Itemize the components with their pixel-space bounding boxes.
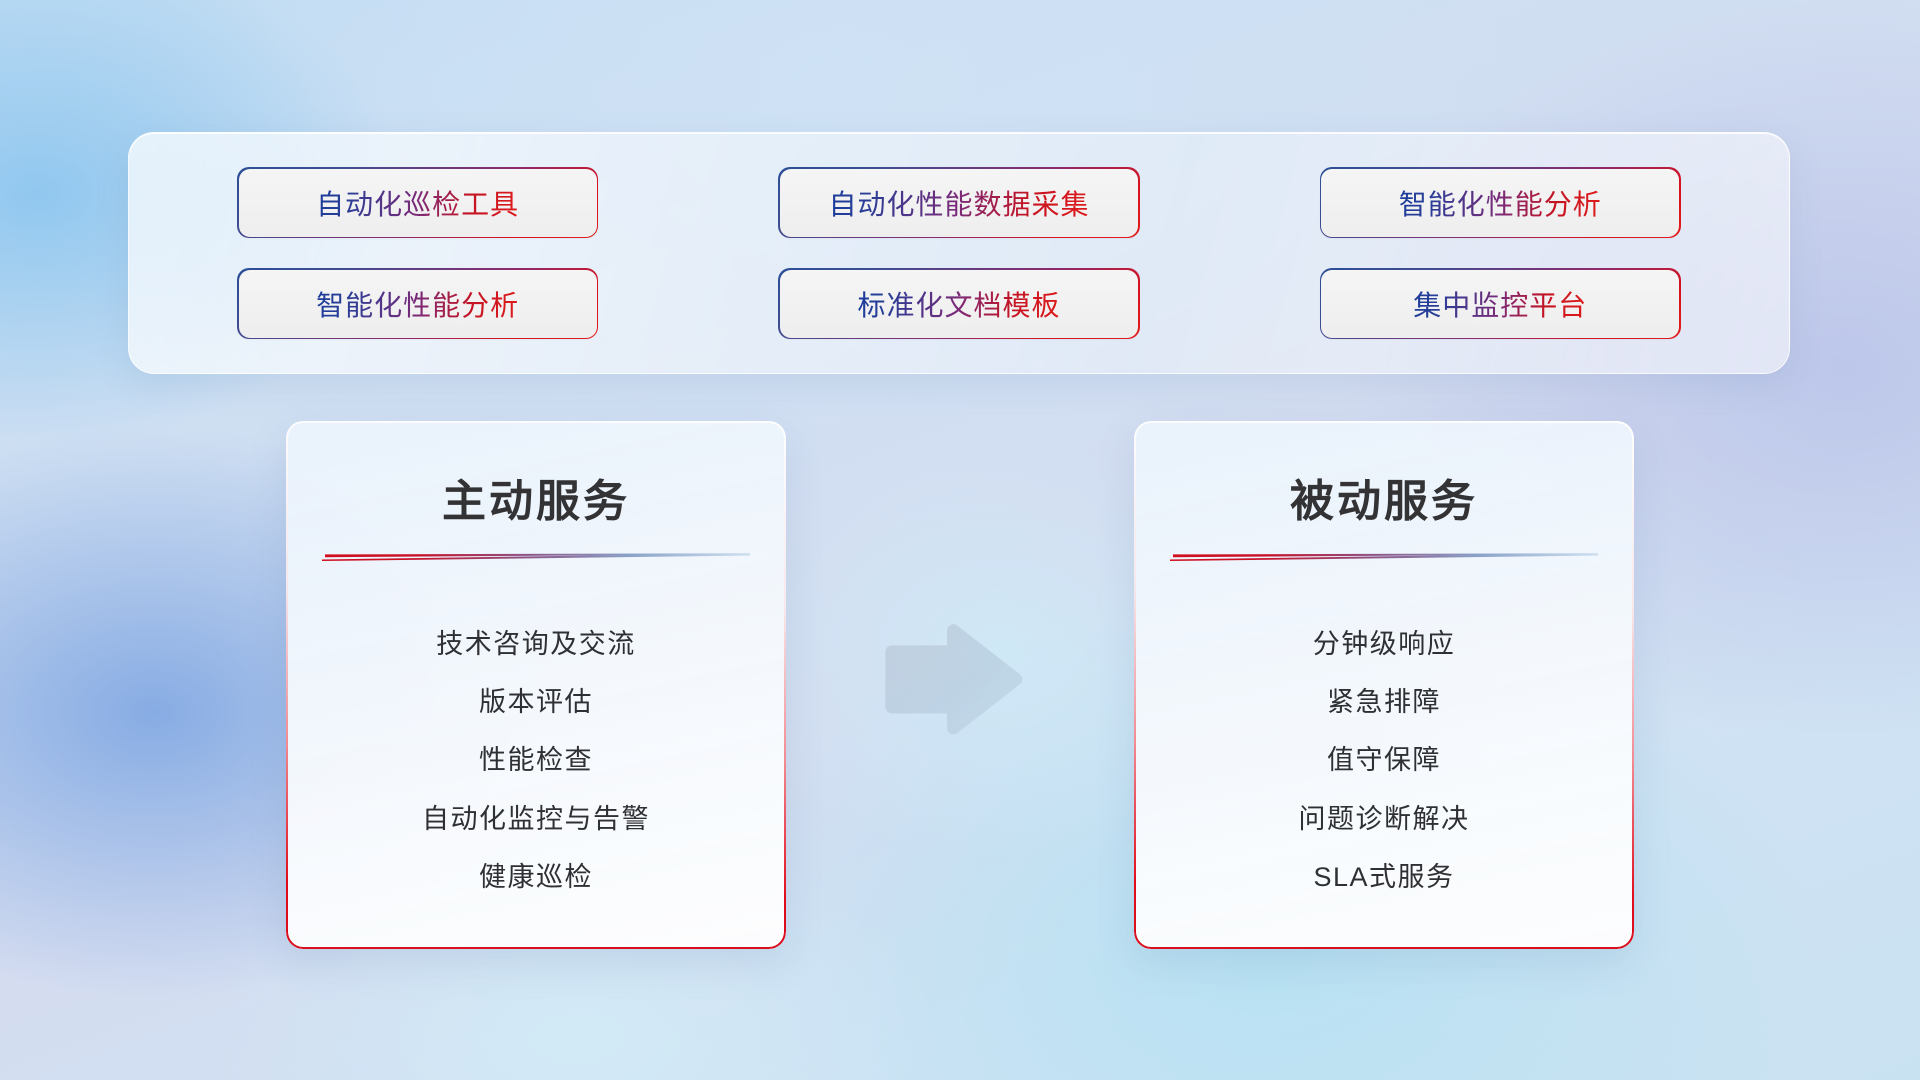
service-card-proactive: 主动服务 技术咨询及交流 版本评估 性能检查 自动化监控与告警 健康巡检 — [286, 421, 786, 949]
service-card-title: 主动服务 — [286, 465, 786, 529]
capability-tag-label: 智能化性能分析 — [316, 284, 519, 324]
list-item: 版本评估 — [479, 680, 593, 719]
list-item: 值守保障 — [1327, 738, 1441, 777]
list-item: SLA式服务 — [1313, 855, 1454, 894]
capability-tag-label: 标准化文档模板 — [857, 284, 1060, 324]
capability-tag[interactable]: 集中监控平台 — [1321, 270, 1679, 338]
capability-tag-label: 自动化巡检工具 — [316, 183, 519, 223]
list-item: 分钟级响应 — [1313, 622, 1456, 661]
service-card-reactive: 被动服务 分钟级响应 紧急排障 值守保障 问题诊断解决 SLA式服务 — [1134, 421, 1634, 949]
capability-tag[interactable]: 自动化巡检工具 — [239, 169, 597, 237]
capability-tag-label: 智能化性能分析 — [1399, 183, 1602, 223]
service-card-title: 被动服务 — [1134, 465, 1634, 529]
title-divider-icon — [322, 549, 750, 561]
capability-tag[interactable]: 自动化性能数据采集 — [780, 169, 1138, 237]
service-card-list: 技术咨询及交流 版本评估 性能检查 自动化监控与告警 健康巡检 — [286, 597, 786, 927]
list-item: 健康巡检 — [479, 855, 593, 894]
capability-tags-panel: 自动化巡检工具 自动化性能数据采集 智能化性能分析 智能化性能分析 标准化文档模… — [128, 132, 1790, 374]
capability-tag[interactable]: 智能化性能分析 — [1321, 169, 1679, 237]
arrow-right-icon — [876, 620, 1036, 740]
capability-tag-grid: 自动化巡检工具 自动化性能数据采集 智能化性能分析 智能化性能分析 标准化文档模… — [129, 133, 1789, 373]
capability-tag[interactable]: 智能化性能分析 — [239, 270, 597, 338]
title-divider-icon — [1170, 549, 1598, 561]
list-item: 技术咨询及交流 — [436, 622, 636, 661]
capability-tag-label: 自动化性能数据采集 — [828, 183, 1089, 223]
service-card-list: 分钟级响应 紧急排障 值守保障 问题诊断解决 SLA式服务 — [1134, 597, 1634, 927]
list-item: 自动化监控与告警 — [422, 797, 650, 836]
list-item: 性能检查 — [479, 738, 593, 777]
list-item: 紧急排障 — [1327, 680, 1441, 719]
capability-tag[interactable]: 标准化文档模板 — [780, 270, 1138, 338]
capability-tag-label: 集中监控平台 — [1413, 284, 1587, 324]
list-item: 问题诊断解决 — [1299, 797, 1470, 836]
